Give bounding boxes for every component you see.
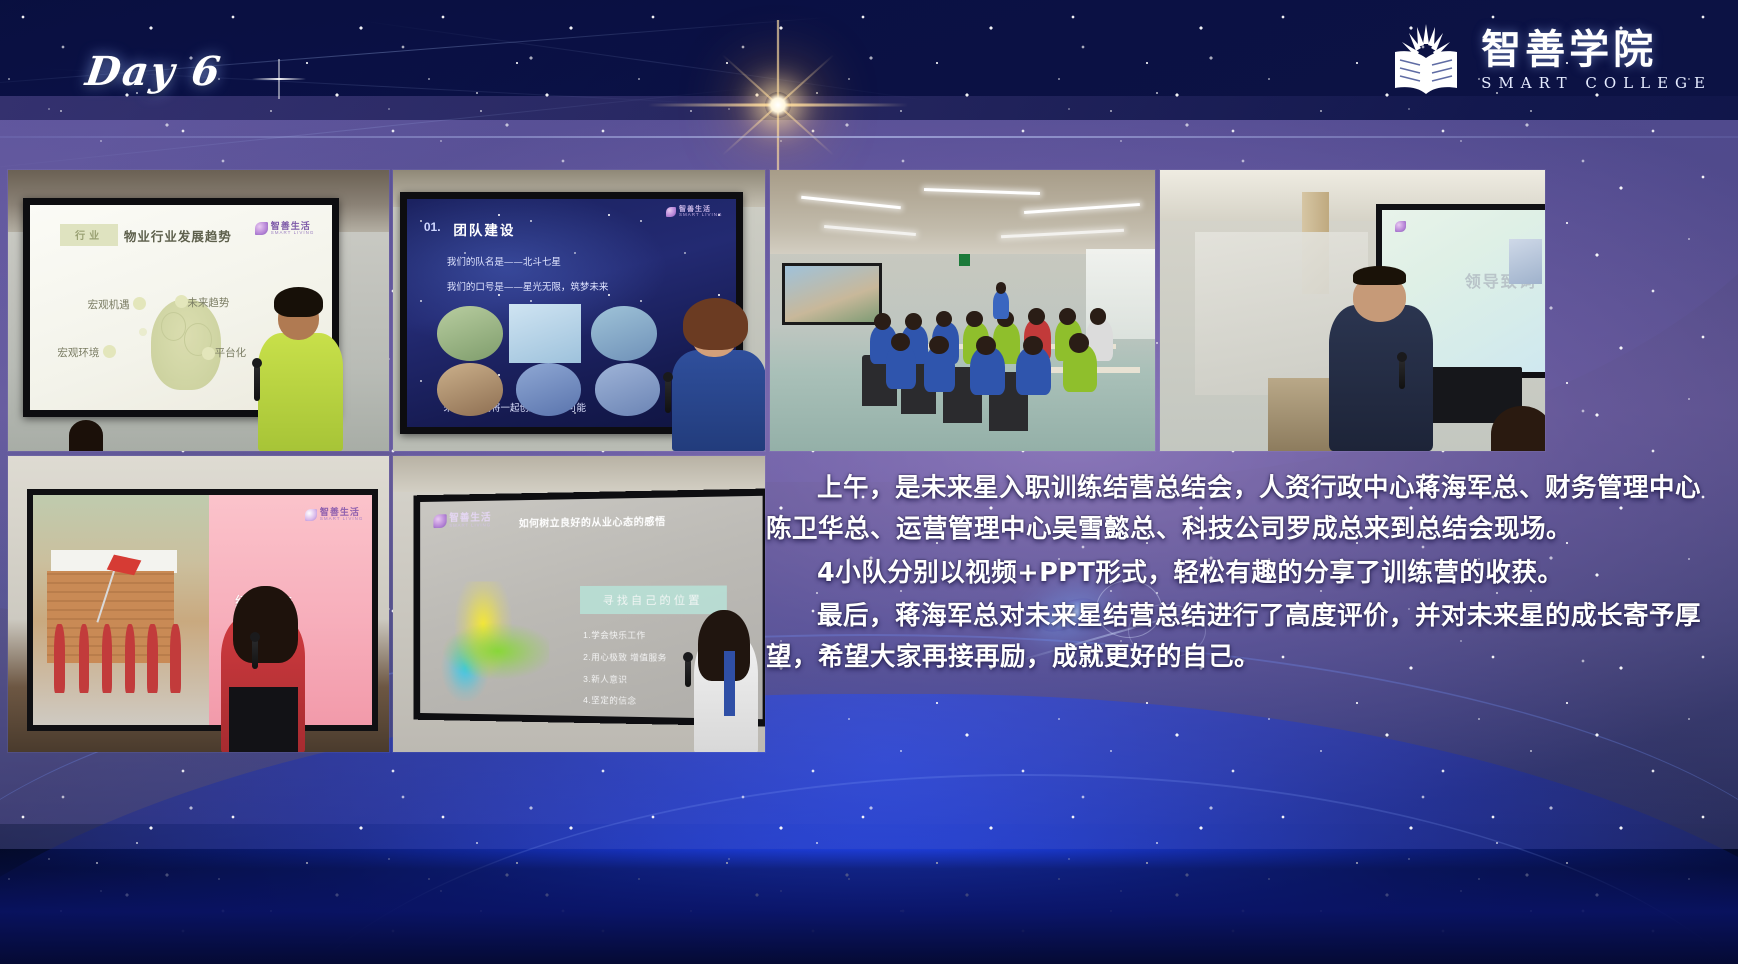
photo-thumbnail[interactable]: classroom audience seated in blue and gr… (770, 170, 1155, 451)
slide-list-item: 1.学会快乐工作 (583, 629, 646, 641)
slide-list-item: 2.用心极致 增值服务 (583, 650, 667, 663)
photo-thumbnail[interactable]: 智善生活 SMART LIVING 01. 团队建设 我们的队名是——北斗七星 … (393, 170, 765, 451)
slide-photo (591, 306, 657, 361)
day-label: Day 6 (83, 48, 225, 95)
header-divider (0, 136, 1738, 138)
slide-header: Day 6 (0, 0, 1738, 138)
slide-label: 未来趋势 (187, 295, 229, 310)
slide-number: 01. (424, 220, 441, 234)
brand-name-cn: 智善学院 (1481, 29, 1657, 71)
brand-name-en: SMART COLLEGE (1481, 74, 1712, 92)
copy-paragraph: 上午，是未来星入职训练结营总结会，人资行政中心蒋海军总、财务管理中心陈卫华总、运… (766, 468, 1716, 551)
slide-title: 如何树立良好的从业心态的感悟 (519, 512, 666, 529)
slide-label: 平台化 (215, 345, 247, 360)
slide-line: 我们的口号是——星光无限，筑梦未来 (447, 279, 609, 293)
slide-tag: 行业 (60, 224, 117, 247)
photo-thumbnail[interactable]: 领导致词 leader giving a speech at the podiu… (1160, 170, 1545, 451)
body-copy: 上午，是未来星入职训练结营总结会，人资行政中心蒋海军总、财务管理中心陈卫华总、运… (766, 468, 1716, 680)
smart-living-logo: 智善生活 SMART LIVING (255, 222, 315, 236)
copy-paragraph: 4小队分别以视频+PPT形式，轻松有趣的分享了训练营的收获。 (766, 553, 1716, 594)
slide-photo (437, 363, 503, 415)
slide-list-item: 3.新人意识 (583, 672, 627, 685)
brain-graphic (151, 299, 221, 389)
logo-name-en: SMART LIVING (679, 213, 723, 218)
smart-college-logo (1395, 221, 1406, 232)
logo-name-en: SMART LIVING (320, 517, 364, 522)
slide-callout: 寻找自己的位置 (580, 585, 727, 614)
slide-list-item: 4.坚定的信念 (583, 694, 636, 707)
logo-name-en: SMART LIVING (449, 523, 491, 528)
slide-line: 我们的队名是——北斗七星 (447, 254, 561, 268)
presentation-slide: Day 6 (0, 0, 1738, 964)
photo-thumbnail[interactable]: 智善生活 SMART LIVING 红海突击 徐政 齐钟声 吴甜 张笑宇 (8, 456, 389, 752)
slide-photo (509, 304, 581, 363)
smart-living-logo: 智善生活 SMART LIVING (433, 513, 491, 528)
brand-text: 智善学院 SMART COLLEGE (1481, 29, 1712, 92)
logo-name-en: SMART LIVING (271, 231, 315, 236)
presenter-figure (661, 277, 765, 451)
photo-thumbnail[interactable]: 智善生活 SMART LIVING 如何树立良好的从业心态的感悟 寻找自己的位置… (393, 456, 765, 752)
slide-label: 宏观环境 (57, 345, 99, 360)
smart-living-logo: 智善生活 SMART LIVING (666, 206, 723, 218)
slide-title: 物业行业发展趋势 (124, 226, 232, 245)
slide-title: 团队建设 (453, 219, 515, 239)
slide-label: 宏观机遇 (88, 297, 130, 312)
slide-photo (437, 306, 503, 361)
presenter-figure (252, 260, 351, 451)
smart-living-logo: 智善生活 SMART LIVING (305, 508, 364, 522)
footer-band (0, 848, 1738, 964)
slide-photo (516, 363, 582, 415)
brand-lockup: 智善学院 SMART COLLEGE (1387, 18, 1712, 102)
photo-thumbnail[interactable]: 行业 物业行业发展趋势 智善生活 SMART LIVING (8, 170, 389, 451)
slide-artwork (436, 581, 549, 702)
open-book-icon (1387, 18, 1465, 102)
slide-photo (595, 363, 661, 415)
copy-paragraph: 最后，蒋海军总对未来星结营总结进行了高度评价，并对未来星的成长寄予厚望，希望大家… (766, 596, 1716, 679)
